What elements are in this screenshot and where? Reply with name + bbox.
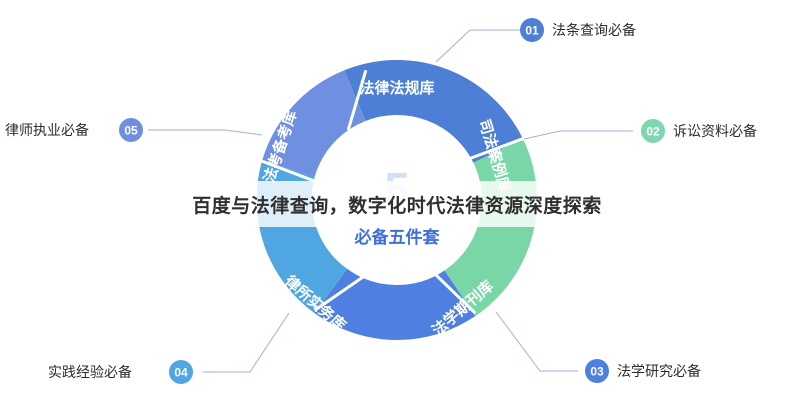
segment-arc-3 [331, 291, 460, 312]
callout-03[interactable]: 03 法学研究必备 [585, 359, 701, 383]
center-title: 必备五件套 [354, 227, 441, 247]
callout-02-number: 02 [646, 125, 660, 139]
callout-04[interactable]: 04 实践经验必备 [48, 360, 193, 384]
leader-line-04 [203, 313, 289, 372]
callout-05-label: 律师执业必备 [5, 122, 89, 138]
caption-text: 百度与法律查询，数字化时代法律资源深度探索 [192, 191, 602, 218]
leader-line-01 [436, 30, 521, 62]
callout-02[interactable]: 02 诉讼资料必备 [641, 119, 757, 143]
diagram-canvas: 5 必备五件套 法律法规库 司法案例库 法学期刊库 律所实务库 法考备考库 01… [0, 0, 794, 400]
leader-line-03 [496, 312, 578, 371]
leader-line-02 [524, 131, 633, 139]
segment-arc-5 [288, 96, 355, 169]
callout-05[interactable]: 05 律师执业必备 [5, 118, 143, 142]
segment-label-1: 法律法规库 [359, 79, 434, 97]
callout-01[interactable]: 01 法条查询必备 [520, 18, 636, 42]
callout-04-label: 实践经验必备 [48, 364, 132, 380]
callout-05-number: 05 [124, 124, 138, 138]
leader-line-05 [148, 130, 262, 135]
callout-01-label: 法条查询必备 [552, 22, 636, 38]
callout-01-number: 01 [525, 24, 539, 38]
callout-03-number: 03 [590, 365, 604, 379]
callout-03-label: 法学研究必备 [617, 363, 701, 379]
callout-04-number: 04 [174, 366, 188, 380]
caption-overlay: 百度与法律查询，数字化时代法律资源深度探索 [0, 181, 794, 227]
callout-02-label: 诉讼资料必备 [673, 123, 757, 139]
